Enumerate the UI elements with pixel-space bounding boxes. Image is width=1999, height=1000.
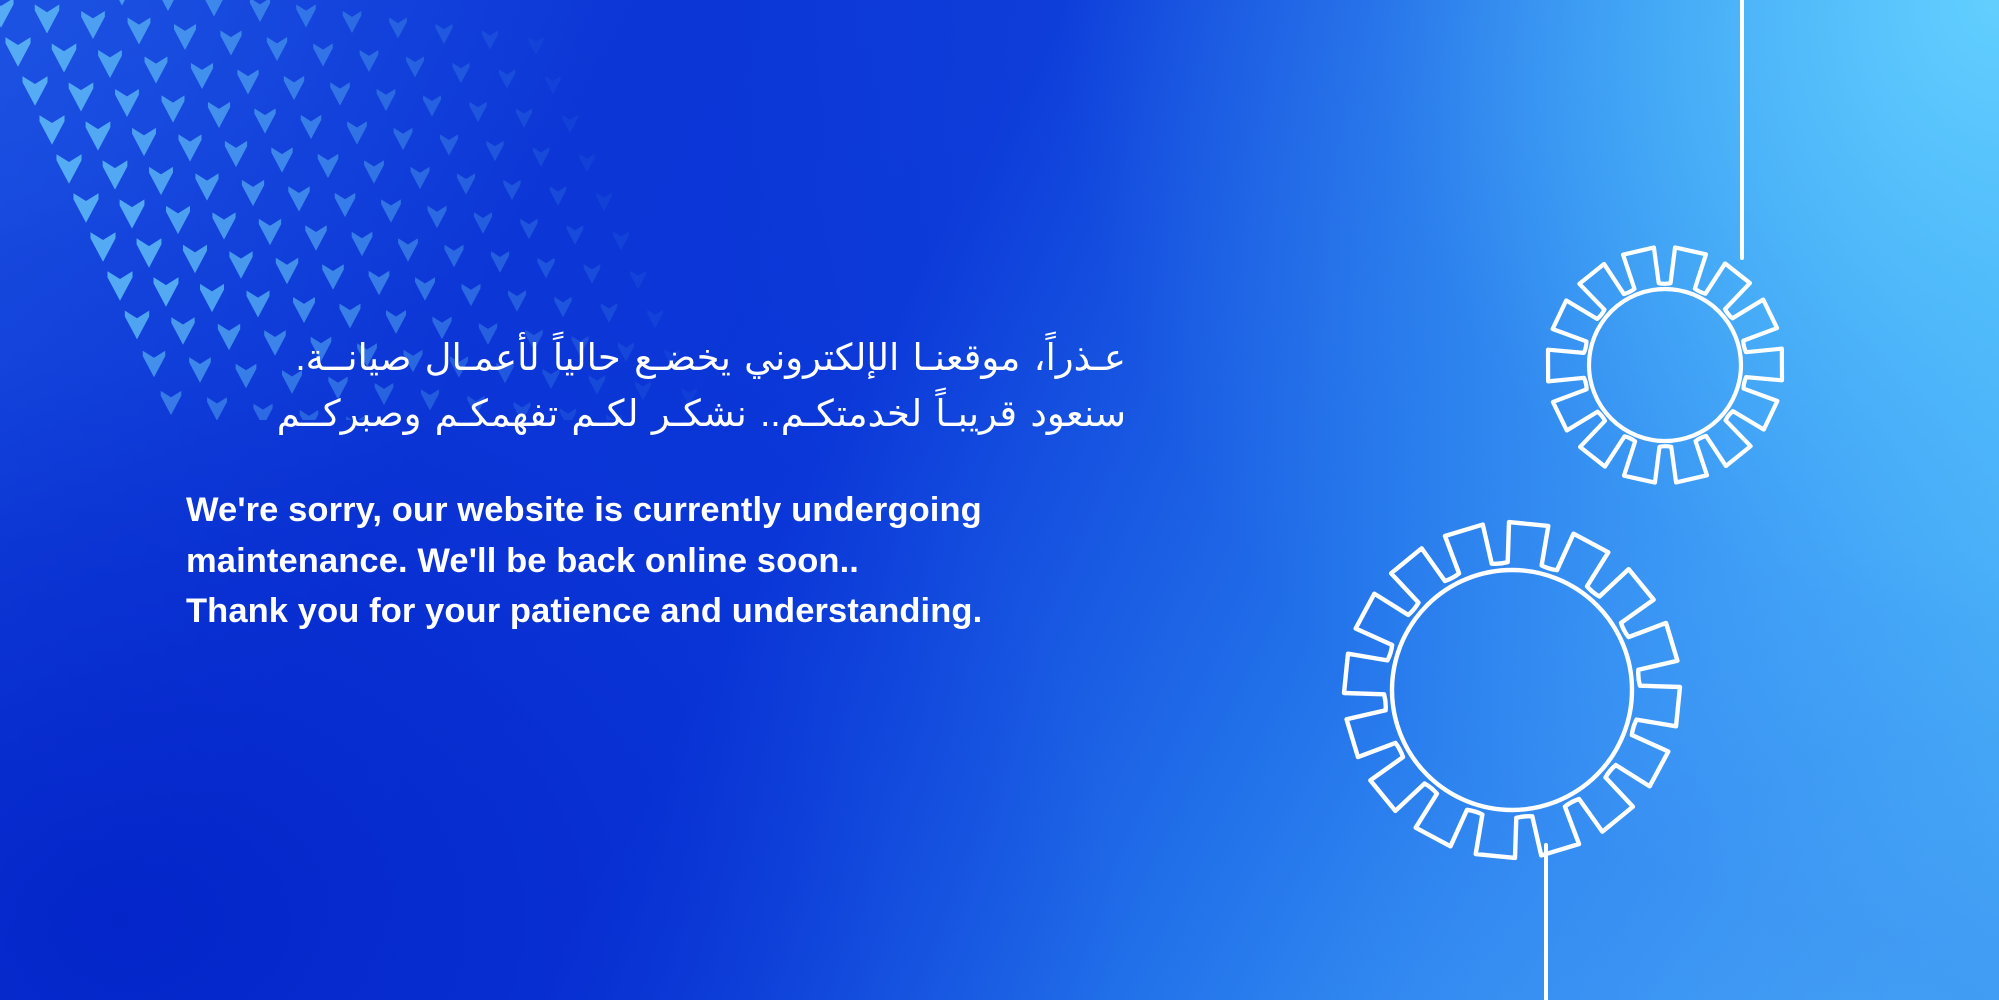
maintenance-message-arabic: عـذراً، موقعنـا الإلكتروني يخضـع حالياً … [186,330,1126,441]
maintenance-message: عـذراً، موقعنـا الإلكتروني يخضـع حالياً … [186,330,1186,637]
english-line-1: We're sorry, our website is currently un… [186,485,1186,536]
maintenance-page: عـذراً، موقعنـا الإلكتروني يخضـع حالياً … [0,0,1999,1000]
english-line-2: maintenance. We'll be back online soon.. [186,536,1186,587]
arabic-line-1: عـذراً، موقعنـا الإلكتروني يخضـع حالياً … [186,330,1126,386]
arabic-line-2: سنعود قريبـاً لخدمتكـم.. نشكـر لكـم تفهم… [186,386,1126,442]
maintenance-message-english: We're sorry, our website is currently un… [186,485,1186,637]
english-line-3: Thank you for your patience and understa… [186,586,1186,637]
